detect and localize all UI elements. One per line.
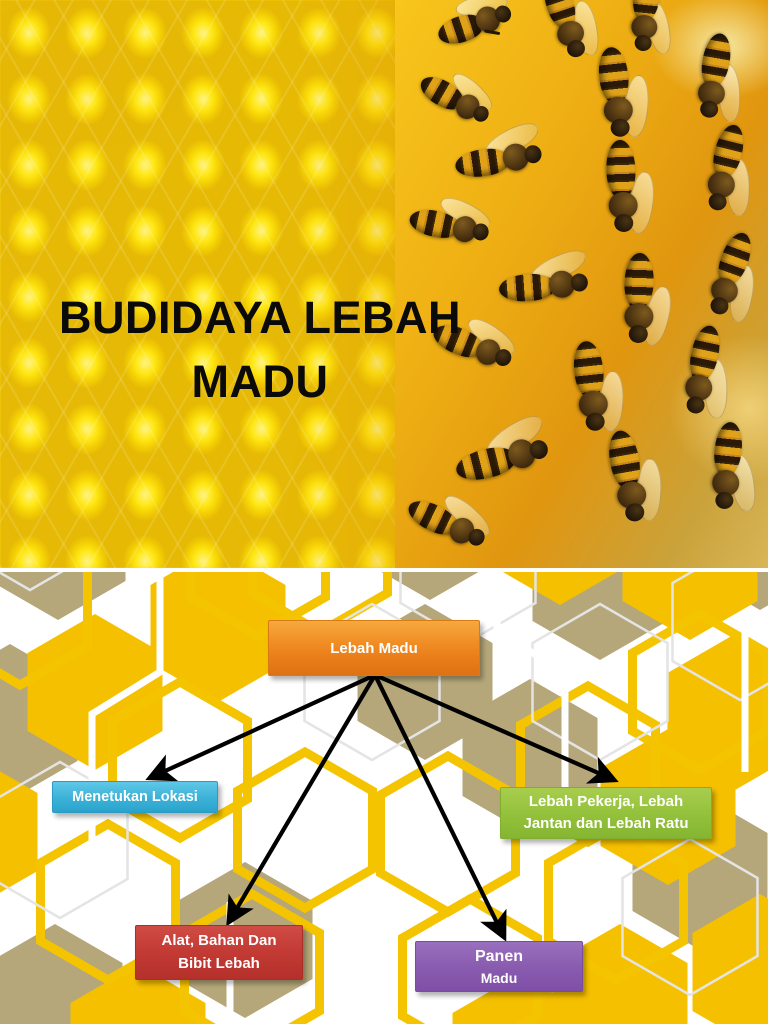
- node-lokasi-label: Menetukan Lokasi: [59, 789, 211, 805]
- slide-title-photo: BUDIDAYA LEBAH MADU: [0, 0, 768, 568]
- bee-icon: [452, 429, 554, 489]
- bee-icon: [704, 420, 749, 511]
- bee-icon: [618, 252, 659, 345]
- bee-icon: [402, 491, 494, 559]
- title-line-2: MADU: [0, 350, 520, 414]
- bee-icon: [601, 427, 655, 526]
- node-alat-label-line2: Bibit Lebah: [142, 953, 296, 976]
- diagram-node-lebah[interactable]: Lebah Pekerja, Lebah Jantan dan Lebah Ra…: [500, 787, 712, 839]
- bee-icon: [698, 227, 761, 320]
- diagram-node-root[interactable]: Lebah Madu: [268, 620, 480, 676]
- bee-icon: [689, 31, 739, 122]
- bee-icon: [675, 322, 729, 418]
- bee-icon: [592, 45, 639, 140]
- diagram-node-alat[interactable]: Alat, Bahan Dan Bibit Lebah: [135, 925, 303, 980]
- arrow-to-lokasi: [152, 675, 375, 777]
- bee-icon: [432, 0, 517, 53]
- bee-icon: [406, 202, 493, 252]
- bee-cluster-photo-region: [395, 0, 768, 568]
- node-alat-label-line1: Alat, Bahan Dan: [161, 932, 276, 949]
- node-lebah-label-line1: Lebah Pekerja, Lebah: [529, 793, 683, 810]
- bee-icon: [601, 139, 642, 234]
- arrow-to-panen: [375, 675, 503, 935]
- slide-title: BUDIDAYA LEBAH MADU: [0, 286, 520, 414]
- bee-icon: [567, 339, 614, 434]
- arrow-to-alat: [230, 675, 375, 920]
- diagram-node-panen[interactable]: Panen Madu: [415, 941, 583, 992]
- bee-icon: [453, 136, 545, 184]
- presentation-page: BUDIDAYA LEBAH MADU: [0, 0, 768, 1024]
- bee-icon: [414, 67, 496, 133]
- diagram-node-lokasi[interactable]: Menetukan Lokasi: [52, 781, 218, 813]
- node-root-label: Lebah Madu: [275, 640, 473, 657]
- node-lebah-label-line2: Jantan dan Lebah Ratu: [507, 813, 705, 835]
- bee-icon: [535, 0, 595, 64]
- bee-icon: [697, 121, 753, 215]
- node-panen-label-line2: Madu: [422, 968, 576, 988]
- bee-icon: [624, 0, 666, 53]
- node-panen-label-line1: Panen: [475, 948, 523, 965]
- title-line-1: BUDIDAYA LEBAH: [0, 286, 520, 350]
- arrow-to-lebah: [375, 675, 612, 779]
